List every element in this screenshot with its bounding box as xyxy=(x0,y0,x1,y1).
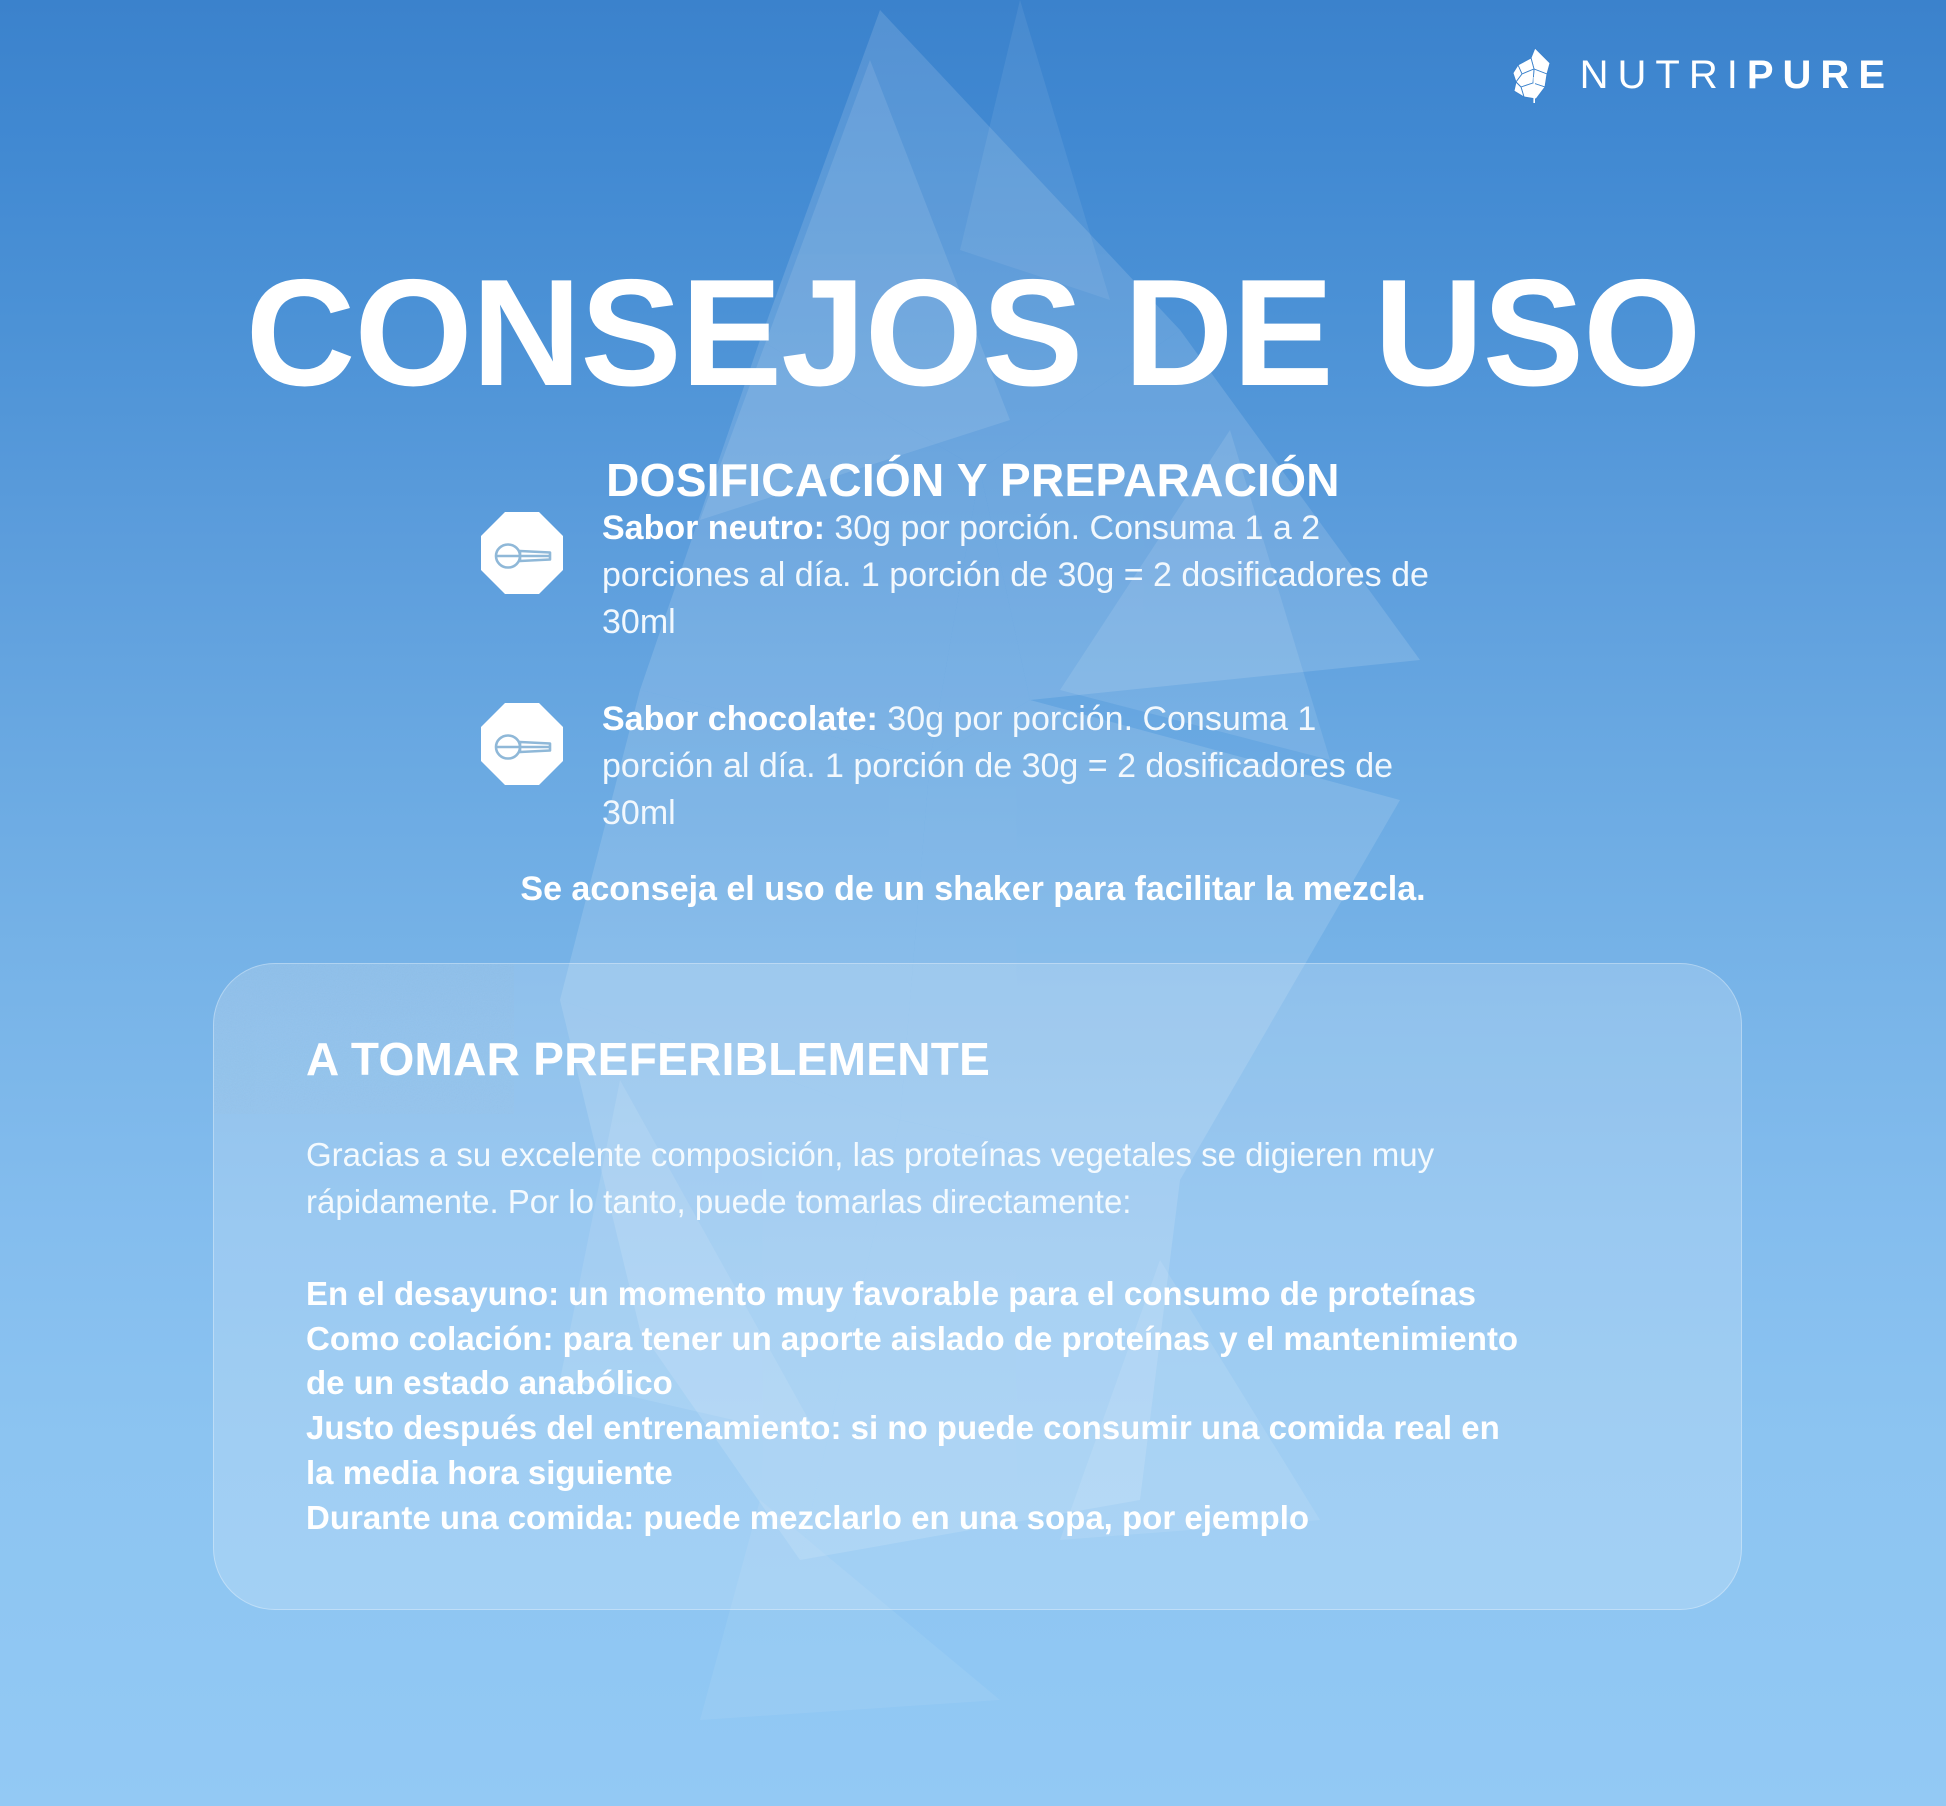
scoop-octagon-icon xyxy=(480,702,564,786)
dosage-item-neutral-label: Sabor neutro: xyxy=(602,509,825,547)
timing-card-bullet-list: En el desayuno: un momento muy favorable… xyxy=(306,1272,1667,1541)
leaf-icon xyxy=(1512,47,1558,103)
scoop-octagon-icon xyxy=(480,511,564,595)
timing-card-paragraph: Gracias a su excelente composición, las … xyxy=(306,1132,1516,1226)
dosage-item-chocolate-label: Sabor chocolate: xyxy=(602,700,878,738)
list-item: Como colación: para tener un aporte aisl… xyxy=(306,1317,1536,1407)
dosage-item-neutral: Sabor neutro: 30g por porción. Consuma 1… xyxy=(480,505,1480,646)
dosage-item-neutral-text: Sabor neutro: 30g por porción. Consuma 1… xyxy=(602,505,1432,646)
brand-wordmark: NUTRIPURE xyxy=(1580,55,1894,95)
list-item: En el desayuno: un momento muy favorable… xyxy=(306,1272,1536,1317)
shaker-note: Se aconseja el uso de un shaker para fac… xyxy=(0,870,1946,909)
list-item: Durante una comida: puede mezclarlo en u… xyxy=(306,1496,1536,1541)
brand-name-light: NUTRI xyxy=(1580,53,1747,97)
list-item: Justo después del entrenamiento: si no p… xyxy=(306,1406,1536,1496)
dosage-section-heading: DOSIFICACIÓN Y PREPARACIÓN xyxy=(0,453,1946,507)
infographic-page: NUTRIPURE CONSEJOS DE USO DOSIFICACIÓN Y… xyxy=(0,0,1946,1806)
timing-card-title: A TOMAR PREFERIBLEMENTE xyxy=(306,1032,1667,1086)
timing-card: A TOMAR PREFERIBLEMENTE Gracias a su exc… xyxy=(213,963,1742,1610)
dosage-item-chocolate: Sabor chocolate: 30g por porción. Consum… xyxy=(480,696,1480,837)
page-title: CONSEJOS DE USO xyxy=(53,257,1893,409)
brand-name-bold: PURE xyxy=(1747,53,1894,97)
brand-logo: NUTRIPURE xyxy=(1512,47,1894,103)
dosage-list: Sabor neutro: 30g por porción. Consuma 1… xyxy=(480,505,1480,886)
dosage-item-chocolate-text: Sabor chocolate: 30g por porción. Consum… xyxy=(602,696,1432,837)
